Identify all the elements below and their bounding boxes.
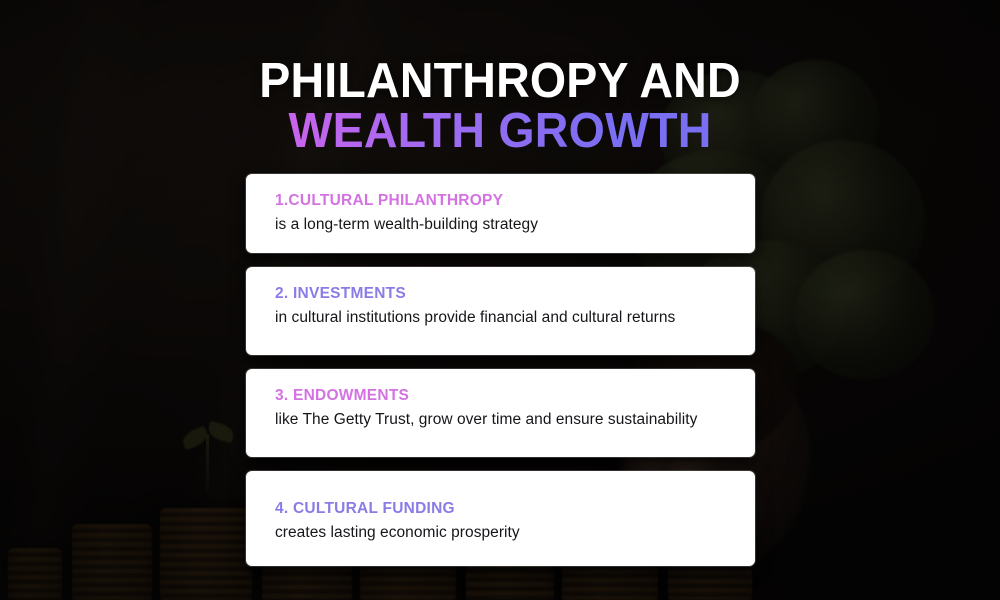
slide-canvas: PHILANTHROPY AND WEALTH GROWTH 1.CULTURA… (0, 0, 1000, 600)
card-body-4: creates lasting economic prosperity (275, 522, 705, 544)
card-heading-1: 1.CULTURAL PHILANTHROPY (275, 191, 728, 210)
content-card-2[interactable]: 2. INVESTMENTS in cultural institutions … (246, 267, 755, 355)
content-card-list: 1.CULTURAL PHILANTHROPY is a long-term w… (246, 174, 755, 566)
card-heading-4: 4. CULTURAL FUNDING (275, 499, 728, 518)
content-card-3[interactable]: 3. ENDOWMENTS like The Getty Trust, grow… (246, 369, 755, 457)
content-card-1[interactable]: 1.CULTURAL PHILANTHROPY is a long-term w… (246, 174, 755, 253)
content-card-4[interactable]: 4. CULTURAL FUNDING creates lasting econ… (246, 471, 755, 566)
title-word-wealth: WEALTH (288, 104, 485, 158)
card-body-3: like The Getty Trust, grow over time and… (275, 409, 705, 431)
title-line-primary: PHILANTHROPY AND (25, 56, 975, 106)
title-line-accent: WEALTH GROWTH (25, 106, 975, 156)
title-word-growth: GROWTH (485, 104, 711, 158)
card-body-2: in cultural institutions provide financi… (275, 307, 705, 329)
card-body-1: is a long-term wealth-building strategy (275, 214, 705, 236)
page-title: PHILANTHROPY AND WEALTH GROWTH (0, 56, 1000, 156)
card-heading-3: 3. ENDOWMENTS (275, 386, 728, 405)
card-heading-2: 2. INVESTMENTS (275, 284, 728, 303)
